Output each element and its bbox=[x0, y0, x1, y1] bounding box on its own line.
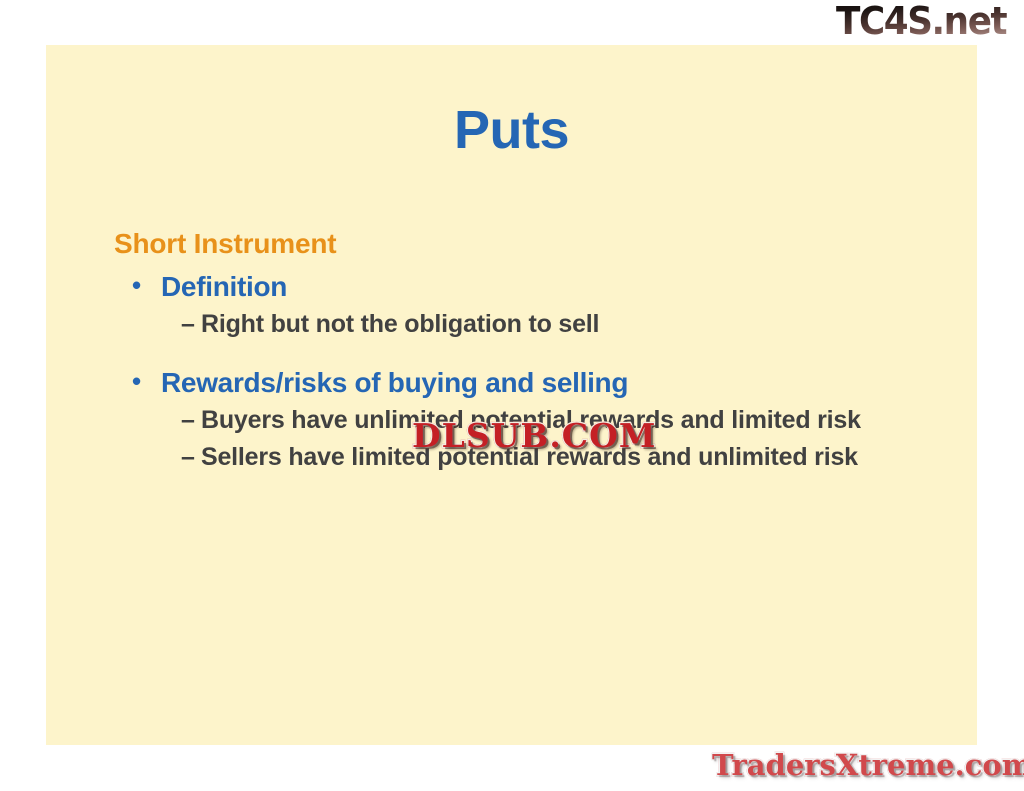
heading-short-instrument: Short Instrument bbox=[114, 228, 964, 259]
bullet-rewards-risks-label: Rewards/risks of buying and selling bbox=[161, 367, 628, 398]
watermark-tc4s: TC4S.net bbox=[836, 0, 1013, 42]
bullet-dot-icon: • bbox=[132, 366, 141, 397]
bullet-dash-icon: – bbox=[181, 442, 195, 474]
bullet-dash-icon: – bbox=[181, 405, 195, 437]
bullet-dot-icon: • bbox=[132, 270, 141, 301]
slide-panel: Puts Short Instrument • Definition – Rig… bbox=[46, 45, 977, 745]
page-title: Puts bbox=[46, 103, 977, 157]
watermark-dlsub-text: DLSUB.COM bbox=[412, 416, 656, 455]
watermark-tradersxtreme: TradersXtreme.com bbox=[712, 748, 1024, 782]
watermark-dlsub: DLSUB.COM bbox=[412, 416, 656, 455]
bullet-dash-icon: – bbox=[181, 309, 195, 341]
subbullet-right-to-sell-text: Right but not the obligation to sell bbox=[201, 310, 599, 338]
bullet-definition: • Definition bbox=[114, 271, 964, 303]
watermark-tradersxtreme-text: TradersXtreme.com bbox=[712, 748, 1024, 782]
bullet-definition-label: Definition bbox=[161, 271, 287, 302]
subbullet-right-to-sell: – Right but not the obligation to sell bbox=[114, 309, 964, 341]
bullet-rewards-risks: • Rewards/risks of buying and selling bbox=[114, 367, 964, 399]
